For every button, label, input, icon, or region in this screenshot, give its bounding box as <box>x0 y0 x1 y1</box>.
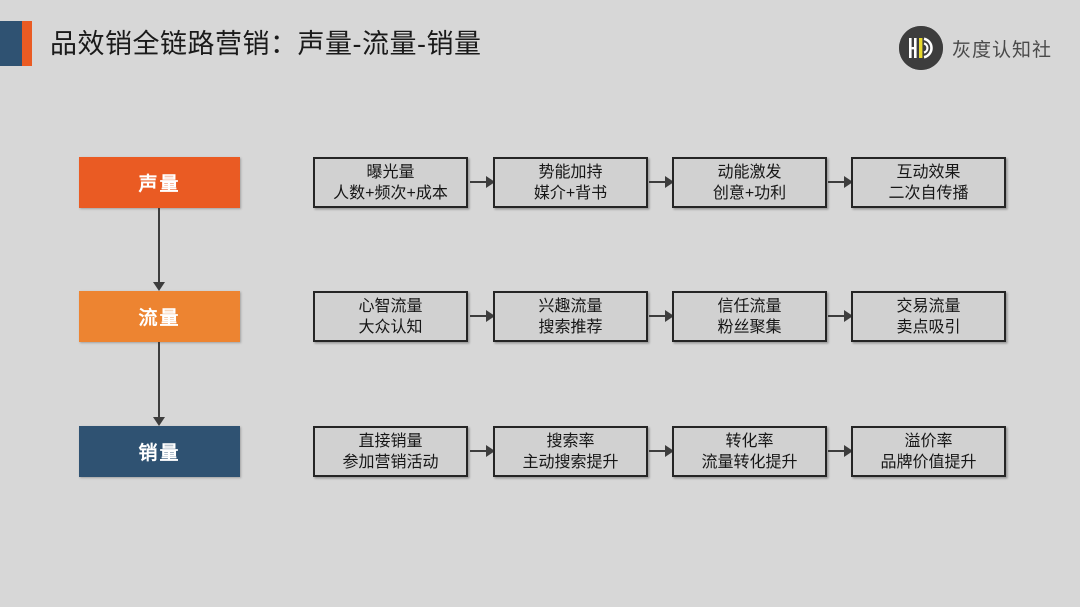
flow-box[interactable]: 曝光量 人数+频次+成本 <box>313 157 468 208</box>
flow-box[interactable]: 转化率 流量转化提升 <box>672 426 827 477</box>
brand-name: 灰度认知社 <box>952 35 1052 62</box>
connector-arrow-right <box>828 181 844 183</box>
flow-box-subtitle: 卖点吸引 <box>896 317 960 338</box>
flow-box-title: 势能加持 <box>538 162 602 183</box>
slide-header: 品效销全链路营销：声量-流量-销量 灰度认知社 <box>0 0 1080 88</box>
connector-arrow-right <box>470 181 486 183</box>
page-title: 品效销全链路营销：声量-流量-销量 <box>50 27 481 61</box>
flow-box-subtitle: 人数+频次+成本 <box>333 183 448 204</box>
flow-row-shengliang: 曝光量 人数+频次+成本 势能加持 媒介+背书 动能激发 创意+功利 互动效果 … <box>313 157 1013 208</box>
flow-box-subtitle: 品牌价值提升 <box>880 452 976 473</box>
connector-arrow-right <box>470 315 486 317</box>
flow-box-subtitle: 流量转化提升 <box>701 452 797 473</box>
connector-arrow-right <box>828 315 844 317</box>
flow-box-title: 交易流量 <box>896 296 960 317</box>
flow-box-subtitle: 主动搜索提升 <box>522 452 618 473</box>
category-box-xiaoliang[interactable]: 销量 <box>79 426 240 477</box>
flow-box-subtitle: 大众认知 <box>358 317 422 338</box>
flow-box[interactable]: 互动效果 二次自传播 <box>851 157 1006 208</box>
category-box-shengliang[interactable]: 声量 <box>79 157 240 208</box>
flow-box-subtitle: 创意+功利 <box>713 183 786 204</box>
flow-box[interactable]: 动能激发 创意+功利 <box>672 157 827 208</box>
flow-box-title: 转化率 <box>725 431 773 452</box>
flow-box-subtitle: 搜索推荐 <box>538 317 602 338</box>
flow-box-title: 信任流量 <box>717 296 781 317</box>
header-accent-navy-bar <box>0 21 22 66</box>
flow-box-subtitle: 粉丝聚集 <box>717 317 781 338</box>
connector-arrow-right <box>649 315 665 317</box>
flow-box-subtitle: 参加营销活动 <box>342 452 438 473</box>
flow-box-title: 溢价率 <box>904 431 952 452</box>
connector-arrow-right <box>649 450 665 452</box>
category-label: 销量 <box>138 438 180 465</box>
flow-box[interactable]: 信任流量 粉丝聚集 <box>672 291 827 342</box>
flow-box[interactable]: 直接销量 参加营销活动 <box>313 426 468 477</box>
flow-box-subtitle: 二次自传播 <box>888 183 968 204</box>
flow-box[interactable]: 心智流量 大众认知 <box>313 291 468 342</box>
category-label: 声量 <box>138 169 180 196</box>
header-accent-orange-bar <box>22 21 32 66</box>
connector-arrow-right <box>649 181 665 183</box>
category-label: 流量 <box>138 303 180 330</box>
flow-box[interactable]: 交易流量 卖点吸引 <box>851 291 1006 342</box>
flow-box-title: 搜索率 <box>546 431 594 452</box>
brand-logo: 灰度认知社 <box>899 26 1052 70</box>
flow-box[interactable]: 溢价率 品牌价值提升 <box>851 426 1006 477</box>
flow-box-subtitle: 媒介+背书 <box>534 183 607 204</box>
hd-circle-logo-icon <box>899 26 943 70</box>
flow-box-title: 动能激发 <box>717 162 781 183</box>
flow-box-title: 兴趣流量 <box>538 296 602 317</box>
flow-box-title: 互动效果 <box>896 162 960 183</box>
connector-arrow-right <box>470 450 486 452</box>
flow-box-title: 曝光量 <box>366 162 414 183</box>
connector-arrow-right <box>828 450 844 452</box>
flow-box[interactable]: 兴趣流量 搜索推荐 <box>493 291 648 342</box>
flow-box[interactable]: 搜索率 主动搜索提升 <box>493 426 648 477</box>
connector-arrow-down-2 <box>158 342 160 417</box>
connector-arrow-down-1 <box>158 208 160 282</box>
flow-row-xiaoliang: 直接销量 参加营销活动 搜索率 主动搜索提升 转化率 流量转化提升 溢价率 品牌… <box>313 426 1013 477</box>
flow-box[interactable]: 势能加持 媒介+背书 <box>493 157 648 208</box>
flow-box-title: 心智流量 <box>358 296 422 317</box>
category-box-liuliang[interactable]: 流量 <box>79 291 240 342</box>
flow-row-liuliang: 心智流量 大众认知 兴趣流量 搜索推荐 信任流量 粉丝聚集 交易流量 卖点吸引 <box>313 291 1013 342</box>
flow-box-title: 直接销量 <box>358 431 422 452</box>
